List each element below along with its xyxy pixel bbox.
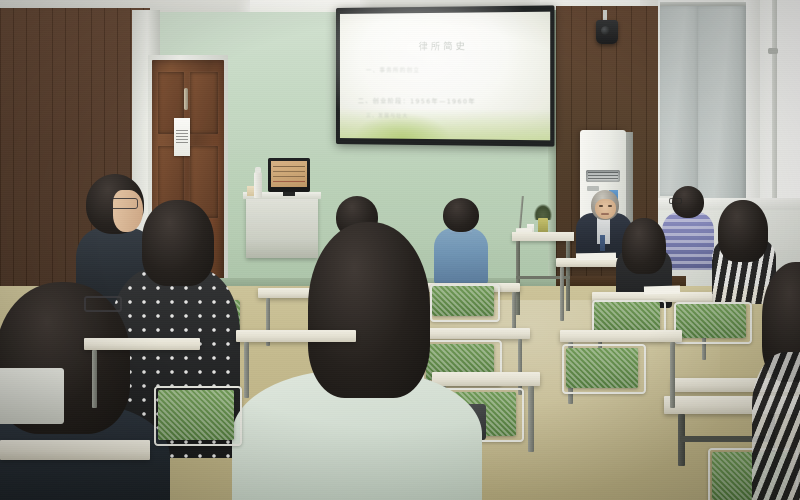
chair-seat[interactable]: [0, 368, 64, 424]
speaker-mouth: [601, 213, 609, 215]
attendee-glasses-face: [113, 190, 143, 232]
desk-leg: [560, 267, 564, 321]
slide-bullet-1: 一、事务所的创立: [366, 66, 521, 74]
speaker-desk-papers: [576, 253, 616, 261]
eyeglasses-icon: [84, 296, 122, 312]
roller-blind[interactable]: [698, 6, 746, 204]
air-conditioner-grille: [588, 172, 618, 180]
attendee-denim-head: [443, 198, 479, 232]
roller-blind[interactable]: [660, 6, 700, 196]
door-handle[interactable]: [184, 88, 188, 110]
projection-screen-surface: 律所简史 一、事务所的创立 二、创业阶段：1956年—1960年 三、发展与壮大: [340, 12, 550, 141]
slide-bullet-3: 三、发展与壮大: [366, 112, 521, 120]
speaker-face: [595, 199, 616, 219]
desk-leg: [670, 342, 675, 408]
attendee-right-foreground-torso: [752, 352, 800, 500]
window-latch[interactable]: [768, 48, 778, 54]
monitor-screen-text: [273, 164, 305, 184]
classroom-desk: [84, 338, 200, 350]
classroom-desk: [236, 330, 356, 342]
slide-title: 律所简史: [340, 39, 550, 53]
speaker-lanyard: [600, 235, 605, 251]
door-notice-text: [176, 130, 188, 144]
spray-bottle: [254, 172, 262, 198]
desk-leg: [518, 339, 522, 395]
air-conditioner-badge: [587, 186, 599, 191]
classroom-desk: [432, 372, 540, 386]
desk-leg: [92, 350, 97, 408]
chair-frame: [562, 344, 646, 394]
side-table: [512, 232, 574, 241]
classroom-desk: [560, 330, 682, 342]
speaker-eye: [599, 205, 603, 207]
classroom-chair[interactable]: [158, 390, 234, 440]
classroom-desk: [0, 440, 150, 460]
spray-bottle-cap: [255, 167, 261, 173]
attendee-striped-top-head: [718, 200, 768, 262]
attendee-mint-head: [308, 222, 430, 398]
monitor-stand: [283, 192, 295, 196]
classroom-photo: 律所简史 一、事务所的创立 二、创业阶段：1956年—1960年 三、发展与壮大: [0, 0, 800, 500]
projection-screen-frame: 律所简史 一、事务所的创立 二、创业阶段：1956年—1960年 三、发展与壮大: [336, 5, 554, 146]
speaker-lens-icon: [601, 26, 610, 35]
desk-notebook: [644, 286, 680, 295]
attendee-longhair-head: [622, 218, 666, 274]
attendee-polkadot-head: [142, 200, 214, 286]
attendee-denim-torso: [434, 228, 488, 284]
chair-frame: [674, 302, 752, 344]
lectern: [246, 196, 318, 258]
speaker-eye: [608, 205, 612, 207]
door-panel: [190, 72, 218, 134]
slide-bullet-2: 二、创业阶段：1956年—1960年: [358, 96, 544, 106]
desk-leg: [528, 386, 534, 452]
desk-leg: [244, 342, 249, 398]
eyeglasses-icon: [110, 198, 138, 209]
chair-frame: [430, 284, 500, 322]
classroom-desk: [420, 328, 530, 339]
eyeglasses-icon: [669, 198, 682, 204]
